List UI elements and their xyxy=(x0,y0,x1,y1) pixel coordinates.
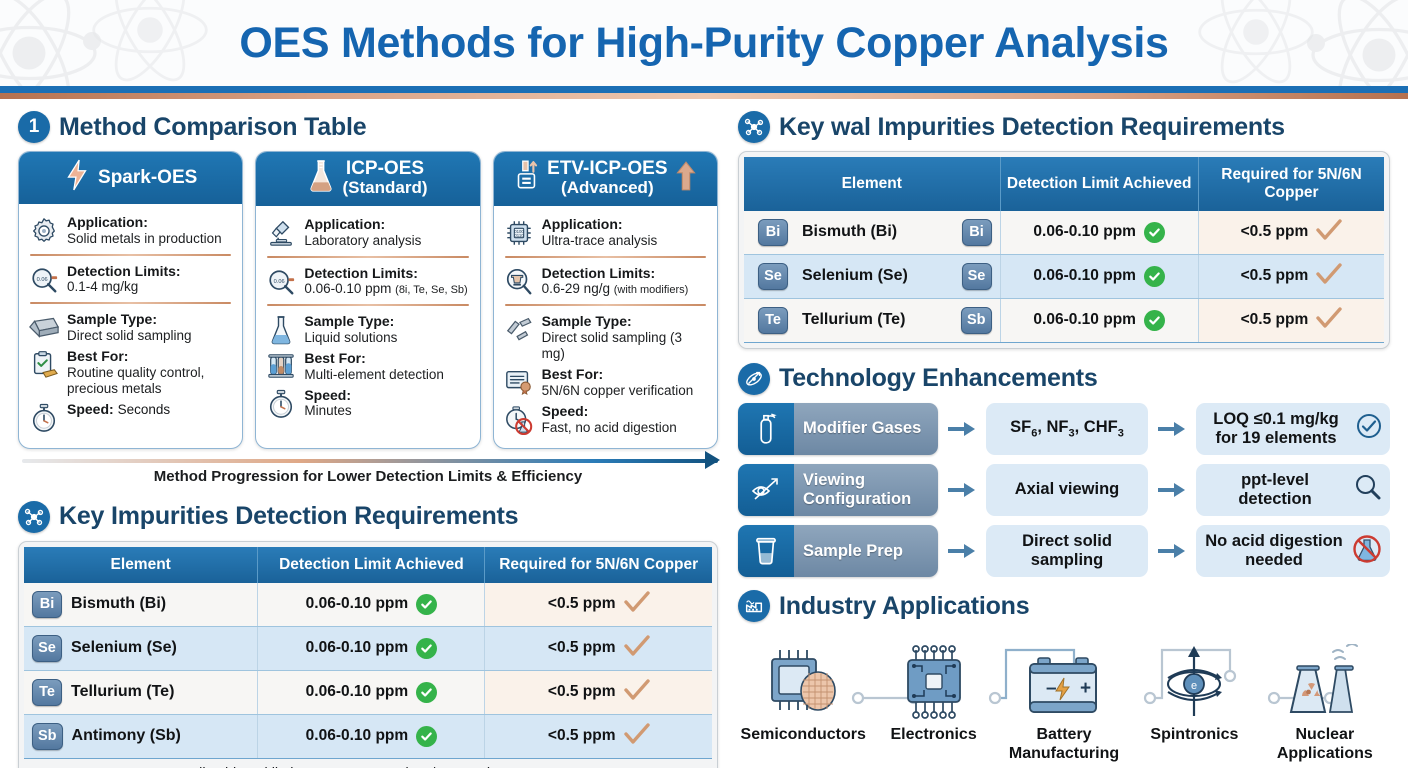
industry-label: Nuclear Applications xyxy=(1260,726,1390,762)
feature-value: 5N/6N copper verification xyxy=(542,383,708,399)
cell-required: <0.5 ppm xyxy=(1198,211,1384,255)
card-body: Application: Laboratory analysis 0.06 De… xyxy=(256,206,479,432)
element-name: Antimony (Sb) xyxy=(72,727,181,745)
industry-item-electronics: Electronics xyxy=(868,630,998,762)
section-heading-key-impurities: Key Impurities Detection Requirements xyxy=(18,501,718,533)
feature-best-for: Best For: Multi-element detection xyxy=(265,348,470,385)
progression-arrowhead-icon xyxy=(705,451,720,469)
stopwatch-icon xyxy=(28,401,60,433)
column-header-detection-limit: Detection Limit Achieved xyxy=(258,547,485,583)
speed-label: Speed: xyxy=(67,401,114,417)
detection-limit-value: 0.06-0.10 ppm xyxy=(306,683,409,701)
table-footnote: All achieved limits meet or exceed 5N/6N… xyxy=(24,759,712,768)
cell-required: <0.5 ppm xyxy=(1198,298,1384,342)
up-arrow-icon xyxy=(676,160,696,197)
required-value: <0.5 ppm xyxy=(548,727,616,745)
column-header-required: Required for 5N/6N Copper xyxy=(485,547,712,583)
feature-value: Direct solid sampling (3 mg) xyxy=(542,330,708,362)
industry-item-semiconductors: Semiconductors xyxy=(738,630,868,762)
factory-icon xyxy=(738,590,770,622)
feature-detection-limits: 0.06 Detection Limits: 0.1-4 mg/kg xyxy=(28,261,233,298)
table-body: BiBismuth (Bi)Bi 0.06-0.10 ppm <0.5 ppm xyxy=(744,211,1384,343)
feature-text: Detection Limits: 0.6-29 ng/g (with modi… xyxy=(542,265,708,298)
feature-label: Best For: xyxy=(304,350,470,367)
tech-row-sample-prep: Sample Prep Direct solid sampling No aci… xyxy=(738,525,1390,577)
cell-required: <0.5 ppm xyxy=(485,626,712,670)
feature-text: Best For: Multi-element detection xyxy=(304,350,470,383)
element-name: Bismuth (Bi) xyxy=(802,223,948,241)
industry-label: Battery Manufacturing xyxy=(999,726,1129,762)
check-circle-icon xyxy=(416,594,437,615)
table-header: Element Detection Limit Achieved Require… xyxy=(24,547,712,583)
magnifier-limit-icon: 0.06 xyxy=(265,265,297,297)
body-grid: 1 Method Comparison Table Spark-OES xyxy=(0,99,1408,768)
battery-icon: –+ xyxy=(1022,630,1106,722)
tech-result-text: ppt-level detection xyxy=(1204,471,1346,509)
arrow-right-icon xyxy=(1155,525,1189,577)
industry-item-nuclear: Nuclear Applications xyxy=(1260,630,1390,762)
card-subtitle: (Advanced) xyxy=(547,179,667,198)
arrow-right-icon xyxy=(945,464,979,516)
number-badge-1: 1 xyxy=(18,111,50,143)
eye-axial-icon xyxy=(738,464,794,516)
arrow-right-icon xyxy=(945,403,979,455)
feature-detection-limits: 0.06 Detection Limits: 0.06-0.10 ppm (8i… xyxy=(265,263,470,300)
svg-text:0110: 0110 xyxy=(514,233,524,238)
table-row: TeTellurium (Te)Sb 0.06-0.10 ppm <0.5 pp… xyxy=(744,298,1384,342)
feature-label: Sample Type: xyxy=(67,311,233,328)
checkmark-icon xyxy=(1316,219,1342,246)
tech-middle-value: Direct solid sampling xyxy=(986,525,1148,577)
feature-label: Sample Type: xyxy=(304,313,470,330)
beaker-cup-icon xyxy=(738,525,794,577)
required-value: <0.5 ppm xyxy=(548,595,616,613)
cell-required: <0.5 ppm xyxy=(485,583,712,627)
card-header: Spark-OES xyxy=(19,152,242,204)
industry-label: Spintronics xyxy=(1150,726,1238,744)
table-header: Element Detection Limit Achieved Require… xyxy=(744,157,1384,211)
cell-required: <0.5 ppm xyxy=(485,714,712,758)
stopwatch-icon xyxy=(265,387,297,419)
element-badge: Se xyxy=(758,263,788,290)
tech-label: Sample Prep xyxy=(794,525,938,577)
feature-value: 0.1-4 mg/kg xyxy=(67,279,233,295)
feature-value: Direct solid sampling xyxy=(67,328,233,344)
feature-value: Laboratory analysis xyxy=(304,233,470,249)
cell-detection-limit: 0.06-0.10 ppm xyxy=(258,583,485,627)
feature-sample-type: Sample Type: Direct solid sampling xyxy=(28,309,233,346)
tech-label: Modifier Gases xyxy=(794,403,938,455)
section-heading-technology: Technology Enhancements xyxy=(738,363,1390,395)
feature-value: Solid metals in production xyxy=(67,231,233,247)
detection-value: 0.06-0.10 ppm xyxy=(304,281,391,296)
gas-formulas: SF6, NF3, CHF3 xyxy=(1010,418,1124,440)
industry-items: Semiconductors Electronics –+ Battery Ma… xyxy=(738,630,1390,762)
method-card-icp-oes[interactable]: ICP-OES (Standard) Application: Laborato… xyxy=(255,151,480,449)
magnifier-icon xyxy=(1354,473,1382,506)
svg-text:0.06: 0.06 xyxy=(274,279,285,285)
table-row: SbAntimony (Sb) 0.06-0.10 ppm <0.5 ppm xyxy=(24,714,712,758)
feature-best-for: Best For: 5N/6N copper verification xyxy=(503,364,708,401)
detection-limit-value: 0.06-0.10 ppm xyxy=(1033,267,1136,285)
feature-divider xyxy=(505,256,706,258)
section-title: Method Comparison Table xyxy=(59,113,366,142)
industry-label: Electronics xyxy=(890,726,976,744)
svg-text:–: – xyxy=(1046,678,1057,699)
etv-furnace-icon xyxy=(515,159,539,198)
tech-middle-value: SF6, NF3, CHF3 xyxy=(986,403,1148,455)
element-badge-secondary: Sb xyxy=(961,307,992,334)
feature-detection-limits: Detection Limits: 0.6-29 ng/g (with modi… xyxy=(503,263,708,300)
speed-value: Seconds xyxy=(118,402,171,417)
detection-limit-value: 0.06-0.10 ppm xyxy=(306,639,409,657)
test-tubes-icon xyxy=(265,350,297,380)
column-header-detection-limit: Detection Limit Achieved xyxy=(1000,157,1198,211)
feature-label: Detection Limits: xyxy=(304,265,470,282)
tech-middle-value: Axial viewing xyxy=(986,464,1148,516)
feature-text: Application: Laboratory analysis xyxy=(304,216,470,249)
feature-divider xyxy=(267,256,468,258)
cell-required: <0.5 ppm xyxy=(485,670,712,714)
feature-text: Detection Limits: 0.1-4 mg/kg xyxy=(67,263,233,296)
card-title-block: ETV-ICP-OES (Advanced) xyxy=(547,159,667,198)
right-column: Key wal Impurities Detection Requirement… xyxy=(738,107,1390,768)
checkmark-icon xyxy=(1316,307,1342,334)
card-body: 01000110 Application: Ultra-trace analys… xyxy=(494,206,717,448)
feature-value: Multi-element detection xyxy=(304,367,470,383)
header-rule-blue xyxy=(0,86,1408,93)
section-title: Industry Applications xyxy=(779,592,1029,621)
element-badge: Bi xyxy=(32,591,62,618)
method-cards: Spark-OES Application: Solid metals in p… xyxy=(18,151,718,449)
feature-application: Application: Laboratory analysis xyxy=(265,214,470,251)
cell-detection-limit: 0.06-0.10 ppm xyxy=(1000,254,1198,298)
magnifier-crucible-icon xyxy=(503,265,535,297)
section-heading-method-comparison: 1 Method Comparison Table xyxy=(18,111,718,143)
checkmark-icon xyxy=(624,635,650,662)
detection-note: (8i, Te, Se, Sb) xyxy=(395,284,468,296)
infographic-page: OES Methods for High-Purity Copper Analy… xyxy=(0,0,1408,768)
feature-text: Application: Solid metals in production xyxy=(67,214,233,247)
method-card-spark-oes[interactable]: Spark-OES Application: Solid metals in p… xyxy=(18,151,243,449)
no-flask-icon xyxy=(1352,534,1382,569)
table-row: BiBismuth (Bi)Bi 0.06-0.10 ppm <0.5 ppm xyxy=(744,211,1384,255)
check-circle-icon xyxy=(1144,222,1165,243)
card-subtitle: (Standard) xyxy=(342,179,427,198)
tech-result-text: No acid digestion needed xyxy=(1204,532,1344,570)
card-title: Spark-OES xyxy=(98,168,197,188)
section-title: Key wal Impurities Detection Requirement… xyxy=(779,113,1285,142)
feature-label: Application: xyxy=(67,214,233,231)
tech-label-pill[interactable]: Modifier Gases xyxy=(738,403,938,455)
required-value: <0.5 ppm xyxy=(1241,267,1309,285)
page-header: OES Methods for High-Purity Copper Analy… xyxy=(0,0,1408,86)
cell-detection-limit: 0.06-0.10 ppm xyxy=(1000,211,1198,255)
element-badge-secondary: Bi xyxy=(962,219,992,246)
tech-row-viewing-configuration: Viewing Configuration Axial viewing ppt-… xyxy=(738,464,1390,516)
technology-rows: Modifier Gases SF6, NF3, CHF3 LOQ ≤0.1 m… xyxy=(738,403,1390,578)
feature-label: Best For: xyxy=(67,348,233,365)
stopwatch-noacid-icon xyxy=(503,403,535,435)
arrow-right-icon xyxy=(945,525,979,577)
feature-text: Sample Type: Direct solid sampling (3 mg… xyxy=(542,313,708,362)
feature-label: Application: xyxy=(304,216,470,233)
page-title: OES Methods for High-Purity Copper Analy… xyxy=(0,0,1408,86)
key-wal-table: Element Detection Limit Achieved Require… xyxy=(744,157,1384,343)
card-title: ETV-ICP-OES xyxy=(547,159,667,179)
element-name: Tellurium (Te) xyxy=(71,683,174,701)
tech-row-modifier-gases: Modifier Gases SF6, NF3, CHF3 LOQ ≤0.1 m… xyxy=(738,403,1390,455)
required-value: <0.5 ppm xyxy=(548,639,616,657)
feature-label: Speed: Seconds xyxy=(67,401,233,417)
detection-limit-value: 0.06-0.10 ppm xyxy=(1033,311,1136,329)
tech-result: LOQ ≤0.1 mg/kg for 19 elements xyxy=(1196,403,1390,455)
cell-element: BiBismuth (Bi) xyxy=(24,583,258,627)
section-title: Key Impurities Detection Requirements xyxy=(59,502,518,531)
cell-element: TeTellurium (Te)Sb xyxy=(744,298,1000,342)
table-row: TeTellurium (Te) 0.06-0.10 ppm <0.5 ppm xyxy=(24,670,712,714)
spintronics-icon: e xyxy=(1154,630,1234,722)
table-row: BiBismuth (Bi) 0.06-0.10 ppm <0.5 ppm xyxy=(24,583,712,627)
element-name: Selenium (Se) xyxy=(71,639,177,657)
feature-divider xyxy=(505,304,706,306)
cell-element: BiBismuth (Bi)Bi xyxy=(744,211,1000,255)
check-circle-icon xyxy=(1144,310,1165,331)
industry-item-spintronics: e Spintronics xyxy=(1129,630,1259,762)
table-row: SeSelenium (Se) 0.06-0.10 ppm <0.5 ppm xyxy=(24,626,712,670)
left-column: 1 Method Comparison Table Spark-OES xyxy=(18,107,718,768)
svg-text:e: e xyxy=(1191,680,1197,692)
feature-speed: Speed: Seconds xyxy=(28,399,233,435)
feature-value: Fast, no acid digestion xyxy=(542,420,708,436)
feature-text: Detection Limits: 0.06-0.10 ppm (8i, Te,… xyxy=(304,265,470,298)
feature-text: Best For: 5N/6N copper verification xyxy=(542,366,708,399)
checkmark-icon xyxy=(624,679,650,706)
feature-text: Sample Type: Direct solid sampling xyxy=(67,311,233,344)
lightning-icon xyxy=(64,159,90,196)
feature-text: Best For: Routine quality control, preci… xyxy=(67,348,233,397)
semiconductor-wafer-icon xyxy=(762,630,844,722)
detection-limit-value: 0.06-0.10 ppm xyxy=(1033,223,1136,241)
microscope-icon xyxy=(265,216,297,248)
feature-value: Ultra-trace analysis xyxy=(542,233,708,249)
progression-line xyxy=(22,459,718,463)
tech-result-text: LOQ ≤0.1 mg/kg for 19 elements xyxy=(1204,410,1348,448)
feature-sample-type: Sample Type: Direct solid sampling (3 mg… xyxy=(503,311,708,364)
solid-chips-icon xyxy=(503,313,535,341)
feature-value: Minutes xyxy=(304,403,470,419)
chip-icon: 01000110 xyxy=(503,216,535,248)
table-header-row: Element Detection Limit Achieved Require… xyxy=(24,547,712,583)
tech-label-pill[interactable]: Sample Prep xyxy=(738,525,938,577)
industry-label: Semiconductors xyxy=(741,726,866,744)
feature-application: 01000110 Application: Ultra-trace analys… xyxy=(503,214,708,251)
feature-label: Sample Type: xyxy=(542,313,708,330)
cell-element: TeTellurium (Te) xyxy=(24,670,258,714)
clipboard-check-icon xyxy=(28,348,60,380)
element-name: Bismuth (Bi) xyxy=(71,595,166,613)
feature-text: Speed: Fast, no acid digestion xyxy=(542,403,708,436)
key-impurities-table-wrapper: Element Detection Limit Achieved Require… xyxy=(18,541,718,768)
feature-sample-type: Sample Type: Liquid solutions xyxy=(265,311,470,348)
table-row: SeSelenium (Se)Se 0.06-0.10 ppm <0.5 ppm xyxy=(744,254,1384,298)
card-body: Application: Solid metals in production … xyxy=(19,204,242,445)
detection-limit-value: 0.06-0.10 ppm xyxy=(306,595,409,613)
feature-divider xyxy=(30,302,231,304)
element-badge: Sb xyxy=(32,723,63,750)
microchip-icon xyxy=(894,630,974,722)
feature-value: Routine quality control, precious metals xyxy=(67,365,233,397)
section-heading-industry: Industry Applications xyxy=(738,590,1390,622)
cell-detection-limit: 0.06-0.10 ppm xyxy=(1000,298,1198,342)
nuclear-plant-icon xyxy=(1283,630,1367,722)
feature-text: Speed: Seconds xyxy=(67,401,233,417)
metal-ingot-icon xyxy=(28,311,60,339)
cell-element: SbAntimony (Sb) xyxy=(24,714,258,758)
required-value: <0.5 ppm xyxy=(1241,223,1309,241)
progression-label: Method Progression for Lower Detection L… xyxy=(18,468,718,485)
feature-value: 0.6-29 ng/g (with modifiers) xyxy=(542,281,708,297)
element-badge: Te xyxy=(32,679,62,706)
feature-label: Speed: xyxy=(304,387,470,404)
section-title: Technology Enhancements xyxy=(779,364,1098,393)
feature-text: Speed: Minutes xyxy=(304,387,470,420)
molecule-icon xyxy=(738,111,770,143)
feature-text: Application: Ultra-trace analysis xyxy=(542,216,708,249)
element-name: Selenium (Se) xyxy=(802,267,948,285)
card-title-block: ICP-OES (Standard) xyxy=(342,159,427,198)
detection-note: (with modifiers) xyxy=(614,284,689,296)
required-value: <0.5 ppm xyxy=(1241,311,1309,329)
flask-icon xyxy=(308,159,334,198)
cell-detection-limit: 0.06-0.10 ppm xyxy=(258,714,485,758)
svg-text:0.06: 0.06 xyxy=(37,277,48,283)
checkmark-icon xyxy=(624,723,650,750)
detection-value: 0.6-29 ng/g xyxy=(542,281,610,296)
check-circle-icon xyxy=(416,726,437,747)
tech-result: ppt-level detection xyxy=(1196,464,1390,516)
feature-label: Speed: xyxy=(542,403,708,420)
key-impurities-table: Element Detection Limit Achieved Require… xyxy=(24,547,712,759)
table-body: BiBismuth (Bi) 0.06-0.10 ppm <0.5 ppm xyxy=(24,583,712,759)
arrow-right-icon xyxy=(1155,403,1189,455)
feature-divider xyxy=(267,304,468,306)
element-name: Tellurium (Te) xyxy=(802,311,947,329)
card-title-block: Spark-OES xyxy=(98,168,197,188)
check-circle-icon xyxy=(416,682,437,703)
check-circle-icon xyxy=(1144,266,1165,287)
column-header-element: Element xyxy=(744,157,1000,211)
feature-text: Sample Type: Liquid solutions xyxy=(304,313,470,346)
molecule-icon xyxy=(18,501,50,533)
column-header-required: Required for 5N/6N Copper xyxy=(1198,157,1384,211)
tech-label: Viewing Configuration xyxy=(794,464,938,516)
certificate-icon xyxy=(503,366,535,396)
magnifier-limit-icon: 0.06 xyxy=(28,263,60,295)
feature-best-for: Best For: Routine quality control, preci… xyxy=(28,346,233,399)
cell-element: SeSelenium (Se) xyxy=(24,626,258,670)
feature-label: Detection Limits: xyxy=(67,263,233,280)
feature-label: Best For: xyxy=(542,366,708,383)
section-heading-key-wal: Key wal Impurities Detection Requirement… xyxy=(738,111,1390,143)
industry-applications: Semiconductors Electronics –+ Battery Ma… xyxy=(738,630,1390,768)
cell-required: <0.5 ppm xyxy=(1198,254,1384,298)
element-badge: Te xyxy=(758,307,788,334)
feature-speed: Speed: Minutes xyxy=(265,385,470,422)
tech-label-pill[interactable]: Viewing Configuration xyxy=(738,464,938,516)
gas-cylinder-icon xyxy=(738,403,794,455)
feature-divider xyxy=(30,254,231,256)
card-title: ICP-OES xyxy=(342,159,427,179)
required-value: <0.5 ppm xyxy=(548,683,616,701)
feature-label: Detection Limits: xyxy=(542,265,708,282)
arrow-right-icon xyxy=(1155,464,1189,516)
card-header: ICP-OES (Standard) xyxy=(256,152,479,206)
feature-speed: Speed: Fast, no acid digestion xyxy=(503,401,708,438)
checkmark-icon xyxy=(624,591,650,618)
cell-detection-limit: 0.06-0.10 ppm xyxy=(258,626,485,670)
check-circle-icon xyxy=(416,638,437,659)
method-progression-arrow: Method Progression for Lower Detection L… xyxy=(18,455,718,497)
table-header-row: Element Detection Limit Achieved Require… xyxy=(744,157,1384,211)
element-badge-secondary: Se xyxy=(962,263,992,290)
feature-value: 0.06-0.10 ppm (8i, Te, Se, Sb) xyxy=(304,281,470,297)
checkmark-icon xyxy=(1316,263,1342,290)
detection-limit-value: 0.06-0.10 ppm xyxy=(306,727,409,745)
industry-item-battery: –+ Battery Manufacturing xyxy=(999,630,1129,762)
svg-text:+: + xyxy=(1080,678,1091,699)
column-header-element: Element xyxy=(24,547,258,583)
feature-application: Application: Solid metals in production xyxy=(28,212,233,249)
method-card-etv-icp-oes[interactable]: ETV-ICP-OES (Advanced) 01000110 xyxy=(493,151,718,449)
element-badge: Se xyxy=(32,635,62,662)
element-badge: Bi xyxy=(758,219,788,246)
key-wal-table-wrapper: Element Detection Limit Achieved Require… xyxy=(738,151,1390,349)
cell-detection-limit: 0.06-0.10 ppm xyxy=(258,670,485,714)
feature-value: Liquid solutions xyxy=(304,330,470,346)
cell-element: SeSelenium (Se)Se xyxy=(744,254,1000,298)
erlenmeyer-icon xyxy=(265,313,297,345)
gear-icon xyxy=(28,214,60,246)
check-circle-icon xyxy=(1356,413,1382,444)
card-header: ETV-ICP-OES (Advanced) xyxy=(494,152,717,206)
enhancement-icon xyxy=(738,363,770,395)
tech-result: No acid digestion needed xyxy=(1196,525,1390,577)
feature-label: Application: xyxy=(542,216,708,233)
